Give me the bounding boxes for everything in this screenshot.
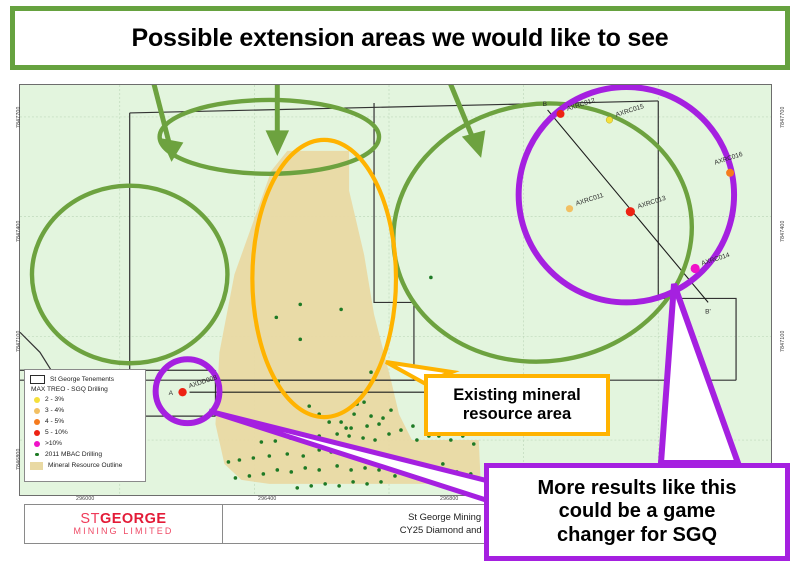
callout-line-2: resource area xyxy=(463,405,571,423)
svg-text:AXRC011: AXRC011 xyxy=(575,192,605,208)
svg-text:B': B' xyxy=(705,308,711,315)
legend-heading: MAX TREO - SGQ Drilling xyxy=(31,386,140,393)
x-tick-label: 296400 xyxy=(258,496,277,502)
treo-swatch-dot xyxy=(34,408,40,414)
logo-text-st: ST xyxy=(80,511,100,527)
legend-item-treo-3-4: 3 - 4% xyxy=(30,405,140,416)
treo-swatch-dot xyxy=(34,397,40,403)
legend-item-treo-5-10: 5 - 10% xyxy=(30,427,140,438)
callout-line-2: could be a game xyxy=(559,500,716,522)
legend-label: 5 - 10% xyxy=(45,429,68,436)
y-tick-label: 7847700 xyxy=(780,106,786,128)
callout-text: Existing mineral resource area xyxy=(453,386,580,424)
legend-label: 3 - 4% xyxy=(45,407,64,414)
callout-line-3: changer for SGQ xyxy=(557,524,717,546)
hole-highlight-circle xyxy=(156,359,220,423)
y-tick-label: 7847400 xyxy=(780,220,786,242)
legend-item-mbac: 2011 MBAC Drilling xyxy=(30,449,140,460)
svg-text:A: A xyxy=(169,390,174,397)
x-tick-label: 296800 xyxy=(440,496,459,502)
y-tick-label: 7846800 xyxy=(16,448,22,470)
svg-text:B: B xyxy=(543,101,548,108)
legend-label: St George Tenements xyxy=(50,376,114,383)
callout-more-results[interactable]: More results like this could be a game c… xyxy=(484,463,790,561)
treo-swatch-dot xyxy=(34,430,40,436)
st-george-logo: STGEORGE MINING LIMITED xyxy=(25,505,223,543)
resource-outline-swatch xyxy=(30,462,43,470)
y-tick-label: 7847700 xyxy=(16,106,22,128)
callout-text: More results like this could be a game c… xyxy=(538,477,737,548)
callout-line-1: Existing mineral xyxy=(453,386,580,404)
legend-label: Mineral Resource Outline xyxy=(48,462,122,469)
map-legend[interactable]: St George Tenements MAX TREO - SGQ Drill… xyxy=(24,369,146,482)
svg-text:AXRC015: AXRC015 xyxy=(615,103,645,119)
svg-text:AXRC013: AXRC013 xyxy=(637,195,667,211)
logo-tagline: MINING LIMITED xyxy=(74,527,174,536)
callout-existing-resource[interactable]: Existing mineral resource area xyxy=(424,374,610,436)
legend-item-treo-4-5: 4 - 5% xyxy=(30,416,140,427)
y-tick-label: 7847100 xyxy=(780,330,786,352)
legend-label: 2011 MBAC Drilling xyxy=(45,451,102,458)
callout-text: Possible extension areas we would like t… xyxy=(131,24,668,53)
legend-item-resource-outline: Mineral Resource Outline xyxy=(30,460,140,471)
callout-extension-areas[interactable]: Possible extension areas we would like t… xyxy=(10,6,790,70)
mbac-swatch-dot xyxy=(35,453,38,456)
callout-line-1: More results like this xyxy=(538,477,737,499)
treo-swatch-dot xyxy=(34,419,40,425)
x-tick-label: 296000 xyxy=(76,496,95,502)
legend-label: >10% xyxy=(45,440,62,447)
legend-label: 2 - 3% xyxy=(45,396,64,403)
legend-label: 4 - 5% xyxy=(45,418,64,425)
y-tick-label: 7847100 xyxy=(16,330,22,352)
screenshot-root: AXRC012 AXRC015 AXRC016 AXRC011 AXRC013 … xyxy=(0,0,800,569)
y-tick-label: 7847400 xyxy=(16,220,22,242)
logo-text-george: GEORGE xyxy=(100,511,167,527)
legend-item-tenements: St George Tenements xyxy=(30,374,140,385)
result-highlight-circle xyxy=(519,87,734,302)
legend-item-treo-gt10: >10% xyxy=(30,438,140,449)
svg-text:AXDD008: AXDD008 xyxy=(188,374,218,390)
treo-swatch-dot xyxy=(34,441,40,447)
legend-item-treo-2-3: 2 - 3% xyxy=(30,394,140,405)
tenement-outline-swatch xyxy=(30,375,45,384)
